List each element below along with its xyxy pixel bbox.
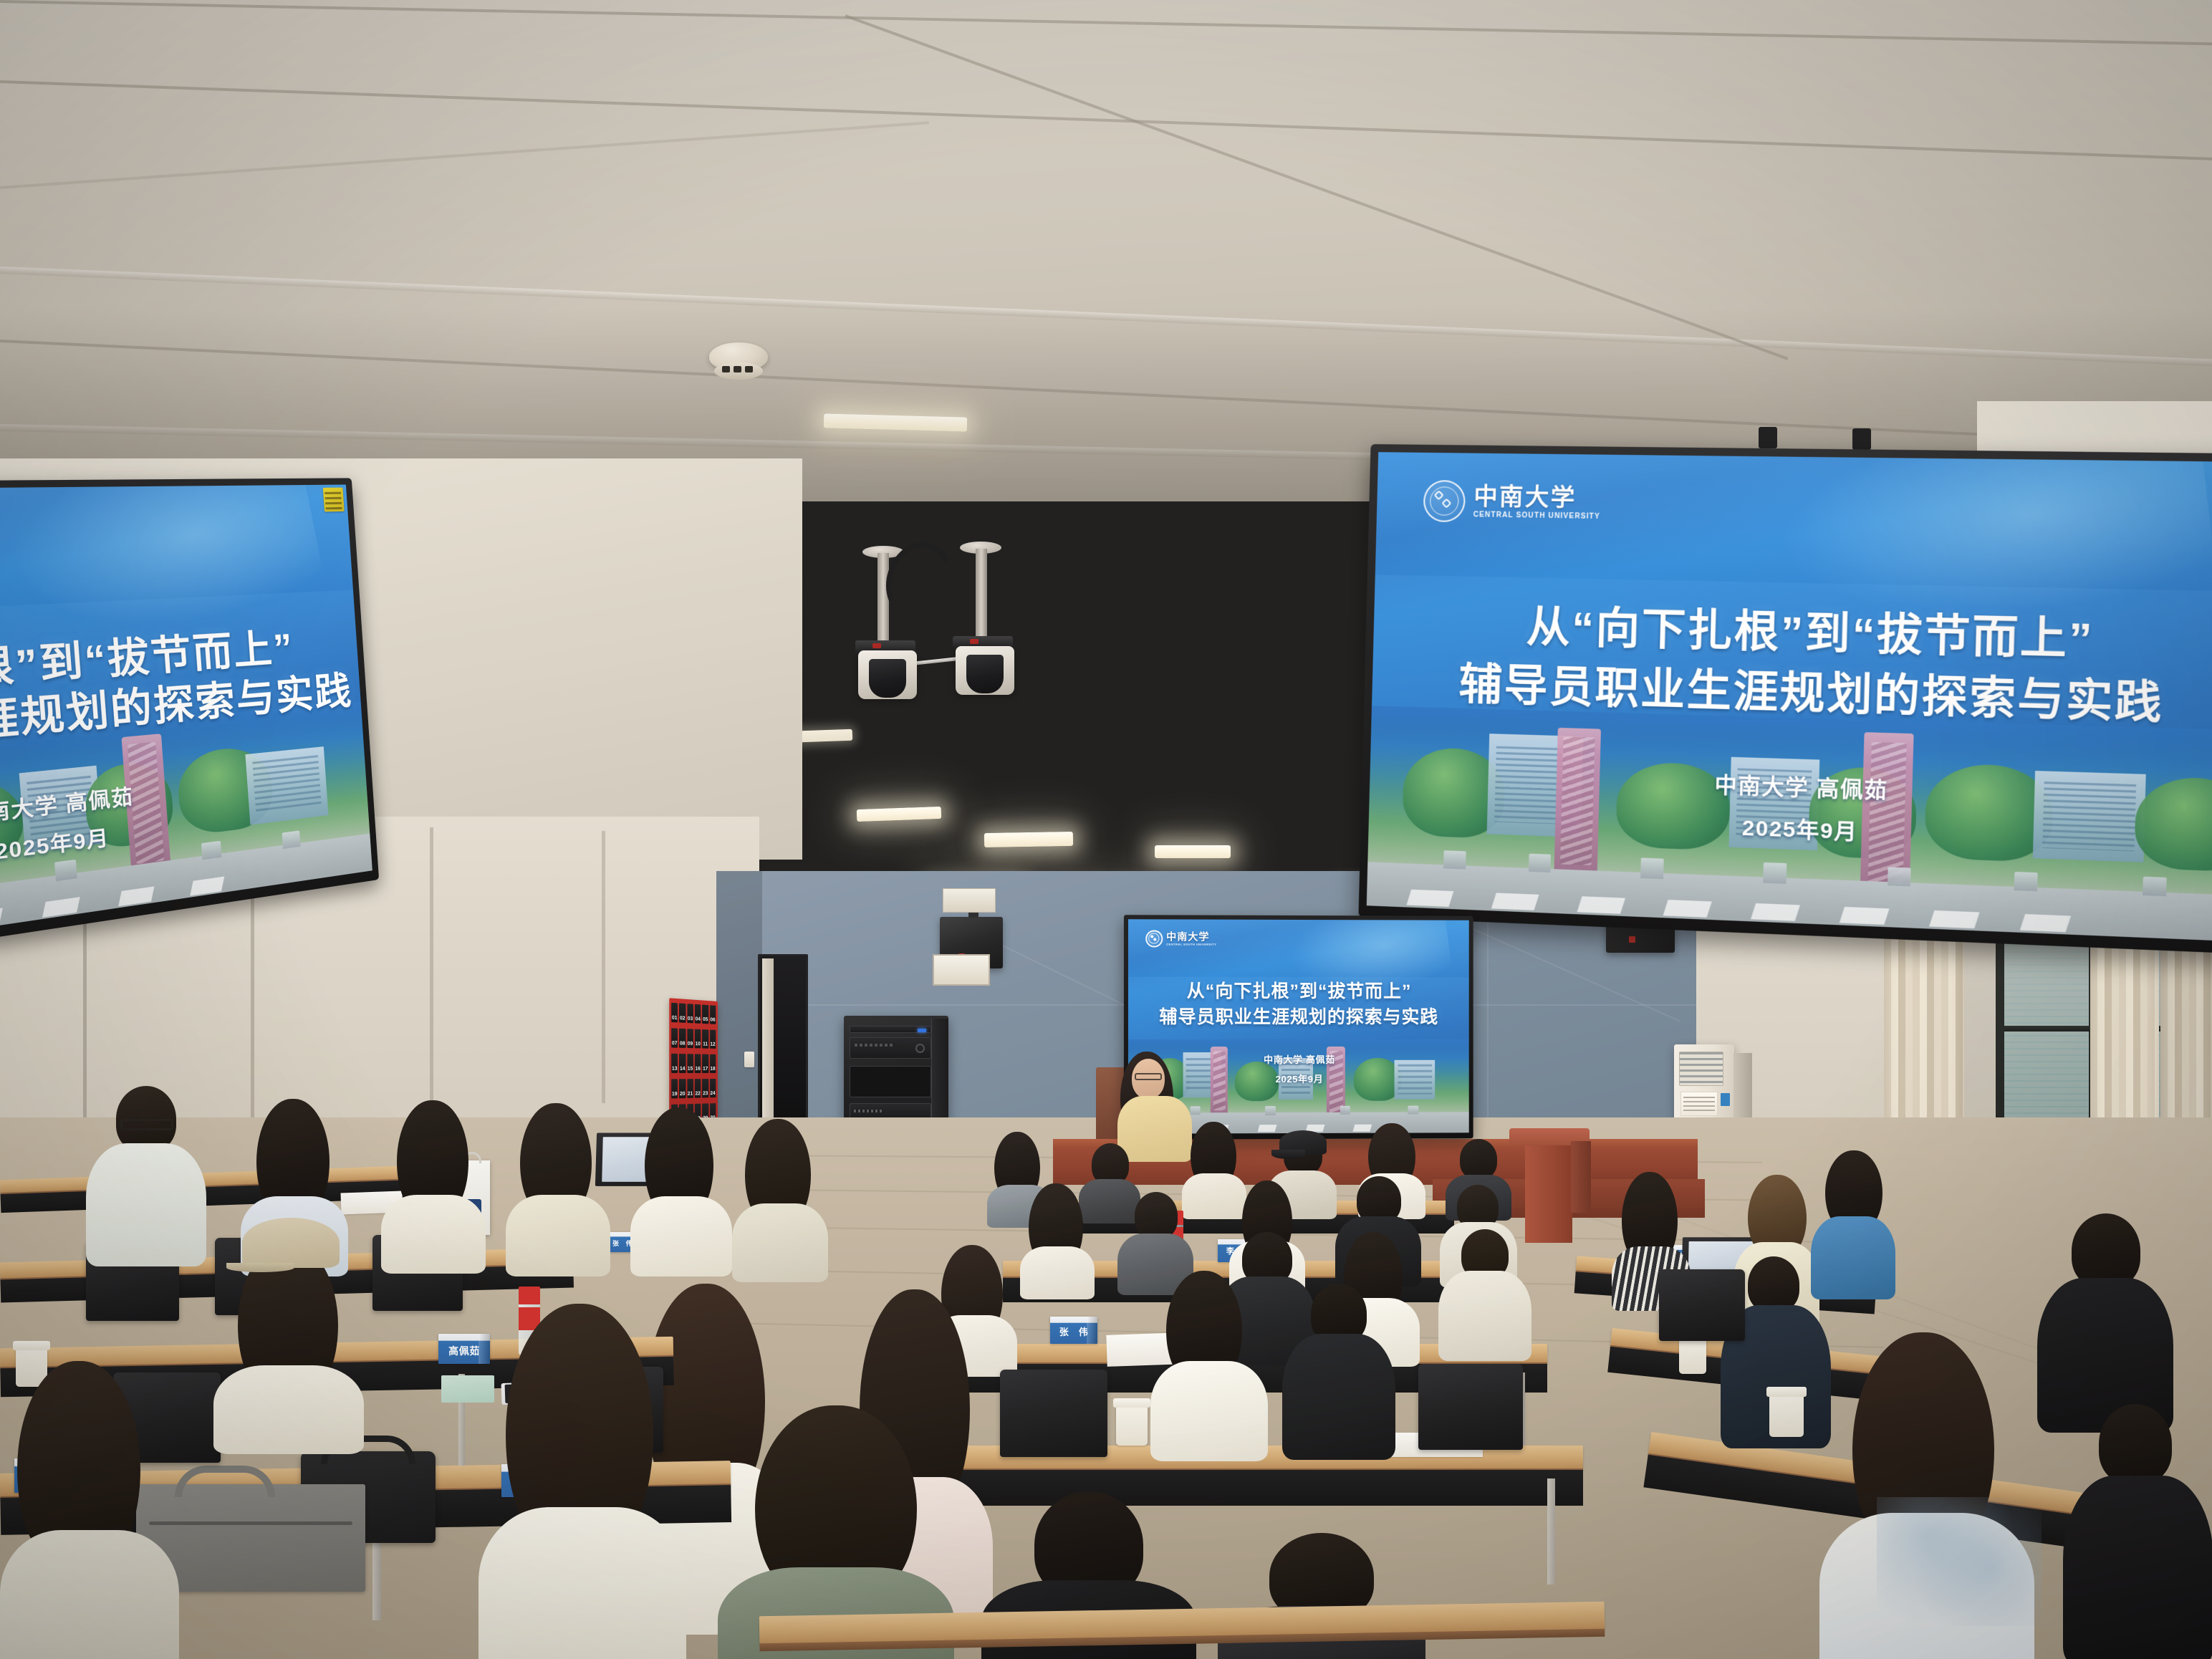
right-wall-display[interactable]: 中南大学 CENTRAL SOUTH UNIVERSITY 从“向下扎根”到“拔… (1358, 444, 2212, 955)
ceiling-light (984, 832, 1073, 847)
csu-name-en: CENTRAL SOUTH UNIVERSITY (1473, 511, 1600, 521)
chair (1418, 1364, 1523, 1450)
glasses-icon (1135, 1073, 1162, 1080)
ceiling-light (857, 807, 942, 822)
smoke-detector-icon (709, 342, 768, 383)
ptz-camera-icon (858, 650, 917, 699)
csu-name-cn: 中南大学 (1473, 484, 1601, 510)
baseball-cap (242, 1218, 340, 1268)
attendee (1020, 1183, 1095, 1276)
attendee-with-cap (213, 1218, 364, 1433)
csu-name-en: CENTRAL SOUTH UNIVERSITY (1166, 943, 1216, 946)
attendee (732, 1119, 828, 1269)
attendee (2037, 1213, 2173, 1421)
lecture-hall-photo: 01 02 03 04 05 06 07 08 09 10 11 12 13 1… (0, 0, 2212, 1659)
attendee (1150, 1271, 1268, 1450)
wall-panel-seam (430, 827, 433, 1114)
warning-sticker (323, 488, 345, 512)
slide-title-line1: 从“向下扎根”到“拔节而上” (1128, 977, 1469, 1004)
ptz-camera-icon (956, 646, 1014, 695)
light-switch[interactable] (744, 1052, 754, 1067)
attendee (86, 1086, 206, 1255)
chair (1000, 1370, 1107, 1457)
attendee (381, 1100, 486, 1259)
display-mount-bracket (1759, 427, 1777, 448)
display-mount-bracket (1852, 428, 1871, 450)
slide-title-line2: 辅导员职业生涯规划的探索与实践 (1128, 1003, 1469, 1029)
coffee-cup (1679, 1337, 1706, 1374)
attendee (1282, 1281, 1395, 1456)
coffee-cup (1769, 1391, 1804, 1437)
slide-content: 中南大学 CENTRAL SOUTH UNIVERSITY 从“向下扎根”到“拔… (0, 485, 372, 928)
attendee-foreground (479, 1304, 686, 1659)
csu-emblem-icon (1423, 480, 1466, 522)
wall-panel-seam (602, 831, 605, 1103)
lectern (1516, 1128, 1582, 1243)
csu-name-cn: 中南大学 (1166, 931, 1216, 941)
slide-content: 中南大学 CENTRAL SOUTH UNIVERSITY 从“向下扎根”到“拔… (1367, 452, 2212, 942)
wall-notice (943, 888, 996, 913)
attendee (630, 1107, 732, 1262)
floral-pattern (1877, 1497, 2042, 1626)
csu-emblem-icon (1145, 930, 1163, 947)
doorway[interactable] (758, 954, 808, 1142)
attendee (1438, 1226, 1531, 1357)
attendee (506, 1103, 610, 1262)
ceiling-camera-rig (847, 532, 1040, 746)
name-card: 张 伟 (1050, 1317, 1097, 1344)
attendee-foreground (0, 1361, 179, 1659)
coffee-cup (1116, 1403, 1148, 1446)
wall-notice (933, 954, 990, 986)
glasses-icon (120, 1119, 173, 1130)
left-hanging-display[interactable]: 中南大学 CENTRAL SOUTH UNIVERSITY 从“向下扎根”到“拔… (0, 478, 379, 940)
chair (1659, 1269, 1745, 1341)
ceiling-light (1155, 845, 1231, 858)
attendee-foreground (2063, 1404, 2212, 1659)
